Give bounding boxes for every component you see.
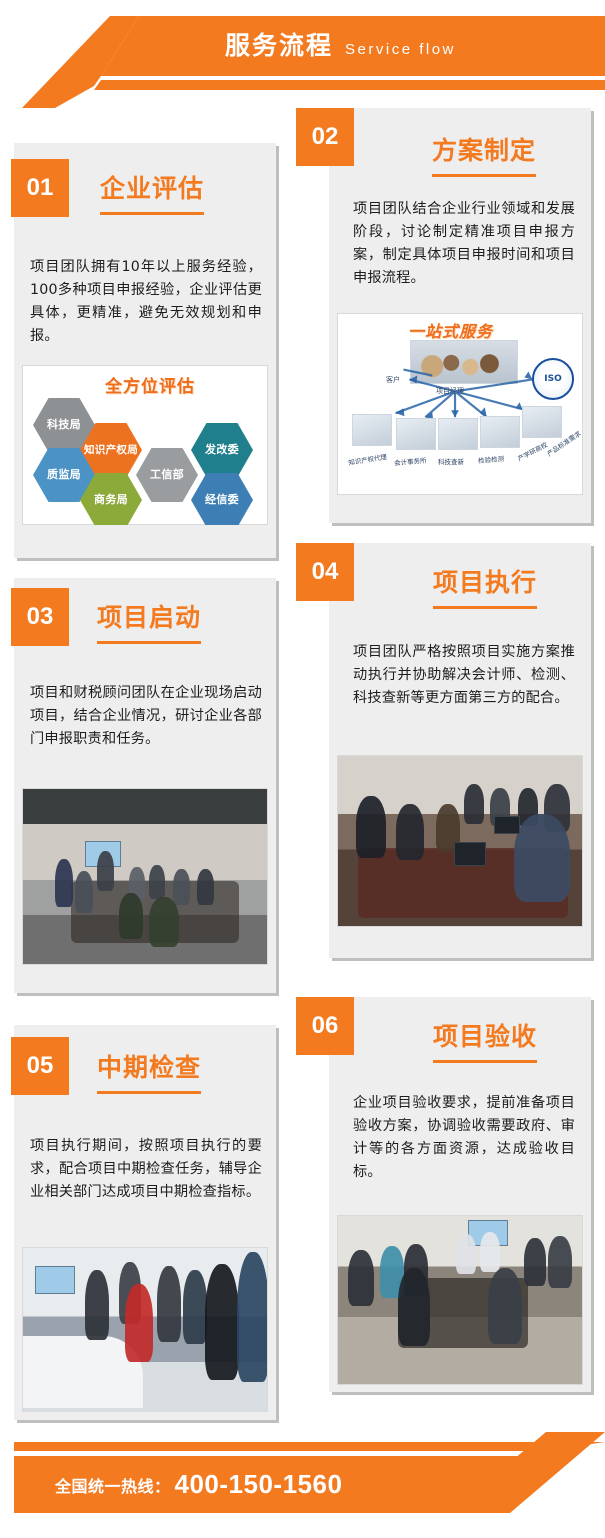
card-number-badge: 05 [11, 1037, 69, 1095]
hex-node-fagaiwei: 发改委 [191, 423, 253, 477]
photo-person [149, 897, 179, 947]
hex-diagram-heading: 全方位评估 [105, 372, 195, 397]
page-subtitle: Service flow [345, 41, 456, 58]
card-title: 中期检查 [97, 1048, 201, 1094]
card-number-badge: 06 [296, 997, 354, 1055]
card-description: 项目团队拥有10年以上服务经验，100多种项目申报经验，企业评估更具体，更精准，… [30, 256, 262, 348]
card-number-badge: 04 [296, 543, 354, 601]
photo-person [514, 814, 570, 902]
photo-site-visit [22, 1247, 268, 1412]
photo-acceptance-meeting [337, 1215, 583, 1385]
page-title: 服务流程 [225, 26, 333, 62]
hex-diagram: 全方位评估 科技局 知识产权局 发改委 质监局 工信部 商务局 经信委 [22, 365, 268, 525]
one-stop-label-3: 科技查新 [438, 456, 464, 466]
card-description: 企业项目验收要求，提前准备项目验收方案，协调验收需要政府、审计等的各方面资源，达… [353, 1092, 575, 1184]
one-stop-node-manager: 项目经理 [436, 386, 464, 396]
card-number-badge: 02 [296, 108, 354, 166]
process-card-04[interactable]: 04 项目执行 项目团队严格按照项目实施方案推动执行并协助解决会计师、检测、科技… [329, 543, 591, 958]
process-card-01[interactable]: 01 企业评估 项目团队拥有10年以上服务经验，100多种项目申报经验，企业评估… [14, 143, 276, 558]
photo-display-panel [35, 1266, 75, 1294]
one-stop-thumb-4 [480, 416, 520, 448]
card-description: 项目执行期间，按照项目执行的要求，配合项目中期检查任务，辅导企业相关部门达成项目… [30, 1135, 262, 1204]
photo-person [157, 1266, 181, 1342]
photo-person [149, 865, 165, 899]
process-card-03[interactable]: 03 项目启动 项目和财税顾问团队在企业现场启动项目，结合企业情况，研讨企业各部… [14, 578, 276, 993]
page-footer: 全国统一热线： 400-150-1560 [0, 1432, 605, 1538]
card-media-photo [337, 1215, 583, 1385]
photo-person [183, 1270, 207, 1344]
photo-person [548, 1236, 572, 1288]
card-description: 项目团队严格按照项目实施方案推动执行并协助解决会计师、检测、科技查新等更方面第三… [353, 641, 575, 710]
photo-person [197, 869, 214, 905]
photo-person [348, 1250, 374, 1306]
card-description: 项目和财税顾问团队在企业现场启动项目，结合企业情况，研讨企业各部门申报职责和任务… [30, 682, 262, 751]
card-title: 方案制定 [432, 131, 536, 177]
one-stop-heading: 一站式服务 [408, 318, 493, 342]
photo-conference-room [22, 788, 268, 965]
card-number-badge: 01 [11, 159, 69, 217]
page-header: 服务流程 Service flow [0, 0, 605, 108]
photo-person [173, 869, 190, 905]
photo-laptop [454, 842, 486, 866]
card-title: 项目执行 [433, 563, 537, 609]
photo-person [524, 1238, 546, 1286]
one-stop-diagram: 一站式服务 [337, 313, 583, 495]
one-stop-thumb-3 [438, 418, 478, 450]
photo-person [396, 804, 424, 860]
card-media-one-stop-diagram: 一站式服务 [337, 313, 583, 495]
photo-meeting-laptops [337, 755, 583, 927]
footer-accent-stripe [14, 1442, 605, 1451]
card-title: 项目验收 [433, 1017, 537, 1063]
photo-person [205, 1264, 239, 1380]
hotline-label: 全国统一热线： [55, 1473, 171, 1497]
process-card-06[interactable]: 06 项目验收 企业项目验收要求，提前准备项目验收方案，协调验收需要政府、审计等… [329, 997, 591, 1392]
photo-person [464, 784, 484, 824]
photo-person [85, 1270, 109, 1340]
photo-person [119, 893, 143, 939]
photo-person [356, 796, 386, 858]
hotline-group: 全国统一热线： 400-150-1560 [55, 1469, 342, 1500]
photo-person [456, 1234, 476, 1274]
header-title-group: 服务流程 Service flow [225, 26, 456, 62]
card-media-photo [337, 755, 583, 927]
process-card-02[interactable]: 02 方案制定 项目团队结合企业行业领域和发展阶段，讨论制定精准项目申报方案，制… [329, 108, 591, 523]
iso-badge-icon: ISO [532, 358, 574, 400]
photo-person [398, 1268, 430, 1346]
process-card-05[interactable]: 05 中期检查 项目执行期间，按照项目执行的要求，配合项目中期检查任务，辅导企业… [14, 1025, 276, 1420]
photo-person [480, 1232, 500, 1272]
card-media-photo [22, 788, 268, 965]
hex-node-jingxinwei: 经信委 [191, 473, 253, 525]
photo-person [97, 851, 114, 891]
card-media-photo [22, 1247, 268, 1412]
photo-laptop [494, 816, 520, 834]
photo-person [125, 1284, 153, 1362]
one-stop-node-customer: 客户 [386, 375, 400, 385]
card-title: 项目启动 [97, 598, 201, 644]
photo-person [237, 1252, 268, 1382]
hex-node-gongxinbu: 工信部 [136, 448, 198, 502]
photo-person [75, 871, 93, 913]
card-title: 企业评估 [100, 169, 204, 215]
photo-person [488, 1268, 522, 1344]
card-media-hex-diagram: 全方位评估 科技局 知识产权局 发改委 质监局 工信部 商务局 经信委 [22, 365, 268, 525]
one-stop-thumb-1 [352, 414, 392, 446]
photo-person [55, 859, 73, 907]
one-stop-thumb-2 [396, 418, 436, 450]
card-number-badge: 03 [11, 588, 69, 646]
one-stop-thumb-5 [522, 406, 562, 438]
hotline-number[interactable]: 400-150-1560 [175, 1469, 343, 1500]
card-description: 项目团队结合企业行业领域和发展阶段，讨论制定精准项目申报方案，制定具体项目申报时… [353, 198, 575, 290]
